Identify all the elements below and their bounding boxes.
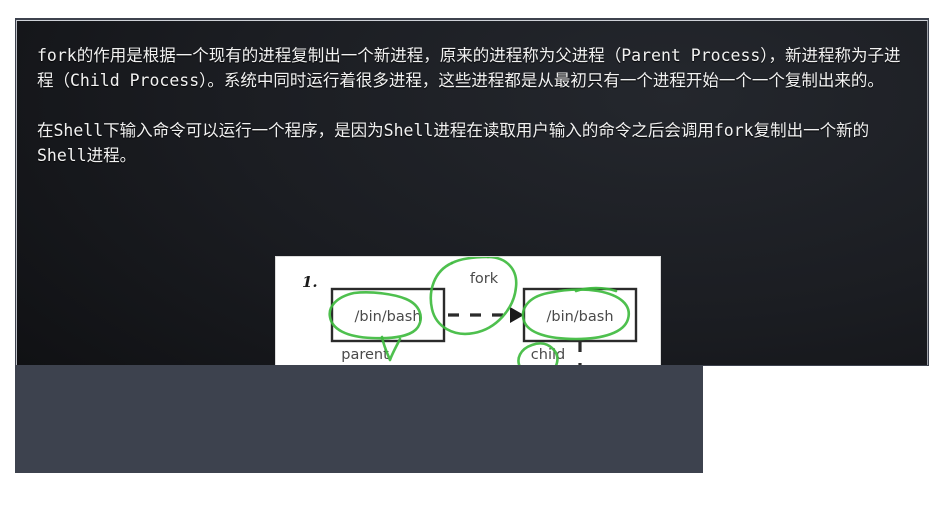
- diagram-role-parent-1: parent: [341, 347, 389, 363]
- diagram-edge-fork: [448, 307, 524, 323]
- diagram-edge-exec: [572, 341, 588, 365]
- page-bottom-margin: [0, 474, 948, 509]
- page-right-margin: [929, 0, 948, 509]
- ink-circle-fork-close: [452, 257, 488, 263]
- slide-paragraph-2: 在Shell下输入命令可以运行一个程序，是因为Shell进程在读取用户输入的命令…: [37, 118, 915, 168]
- diagram-box-child-1-label: /bin/bash: [546, 309, 613, 325]
- diagram-box-parent-1-label: /bin/bash: [354, 309, 421, 325]
- page-top-margin: [0, 0, 948, 18]
- diagram-step-1-number: 1.: [302, 273, 318, 291]
- screenshot-root: fork的作用是根据一个现有的进程复制出一个新进程，原来的进程称为父进程（Par…: [0, 0, 948, 509]
- diagram-edge-fork-label: fork: [470, 271, 499, 287]
- slide-body-text: fork的作用是根据一个现有的进程复制出一个新进程，原来的进程称为父进程（Par…: [37, 43, 915, 168]
- slide-paragraph-1: fork的作用是根据一个现有的进程复制出一个新进程，原来的进程称为父进程（Par…: [37, 43, 915, 93]
- presentation-slide: fork的作用是根据一个现有的进程复制出一个新进程，原来的进程称为父进程（Par…: [16, 20, 928, 365]
- fork-exec-diagram: 1. 2. /bin/bash parent /bin/bash child f…: [275, 256, 661, 365]
- diagram-role-child-1: child: [531, 347, 565, 363]
- page-left-margin: [0, 0, 15, 509]
